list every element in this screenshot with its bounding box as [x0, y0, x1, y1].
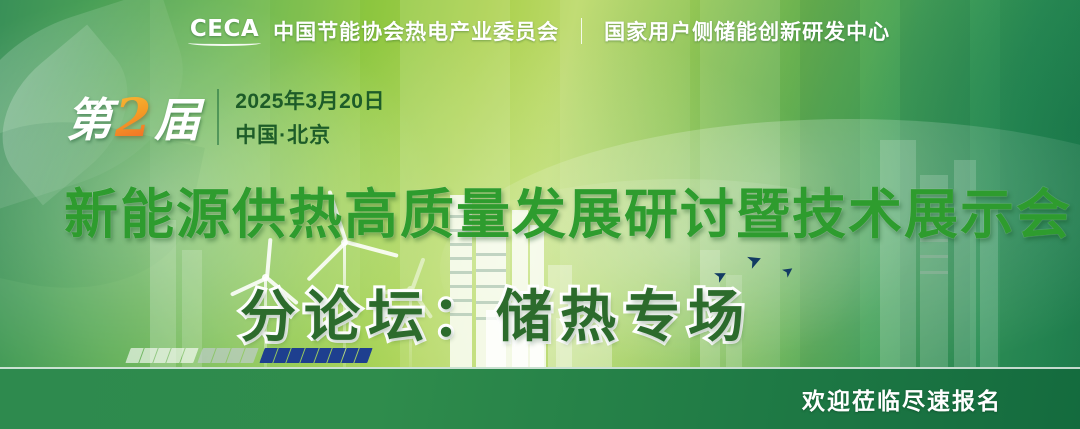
footer-note: 欢迎莅临尽速报名	[802, 382, 1002, 416]
edition-suffix: 届	[154, 93, 201, 147]
event-place: 中国·北京	[235, 119, 385, 149]
banner-header: CECA 中国节能协会热电产业委员会 国家用户侧储能创新研发中心	[0, 0, 1080, 62]
edition-prefix: 第	[66, 93, 113, 147]
edition-block: 第2届 2025年3月20日 中国·北京	[66, 84, 385, 150]
event-when-where: 2025年3月20日 中国·北京	[235, 85, 385, 149]
header-divider	[581, 18, 582, 44]
solar-panel	[125, 348, 198, 363]
ceca-logo: CECA	[190, 16, 259, 46]
subtitle: 分论坛：储热专场	[240, 272, 752, 353]
co-organizer-name: 国家用户侧储能创新研发中心	[604, 16, 890, 46]
edition-digit: 2	[113, 88, 154, 149]
edition-number: 第2届	[66, 84, 201, 150]
page-title: 新能源供热高质量发展研讨暨技术展示会	[64, 170, 1024, 249]
organizer-name: 中国节能协会热电产业委员会	[273, 16, 559, 46]
footer-band: 欢迎莅临尽速报名	[0, 367, 1080, 429]
conference-banner: ➤ ➤ ➤ CECA 中国节能协会热电产业委员会 国家用户侧储能创新研发中心 第…	[0, 0, 1080, 429]
event-date: 2025年3月20日	[235, 85, 385, 115]
edition-divider	[217, 89, 219, 145]
